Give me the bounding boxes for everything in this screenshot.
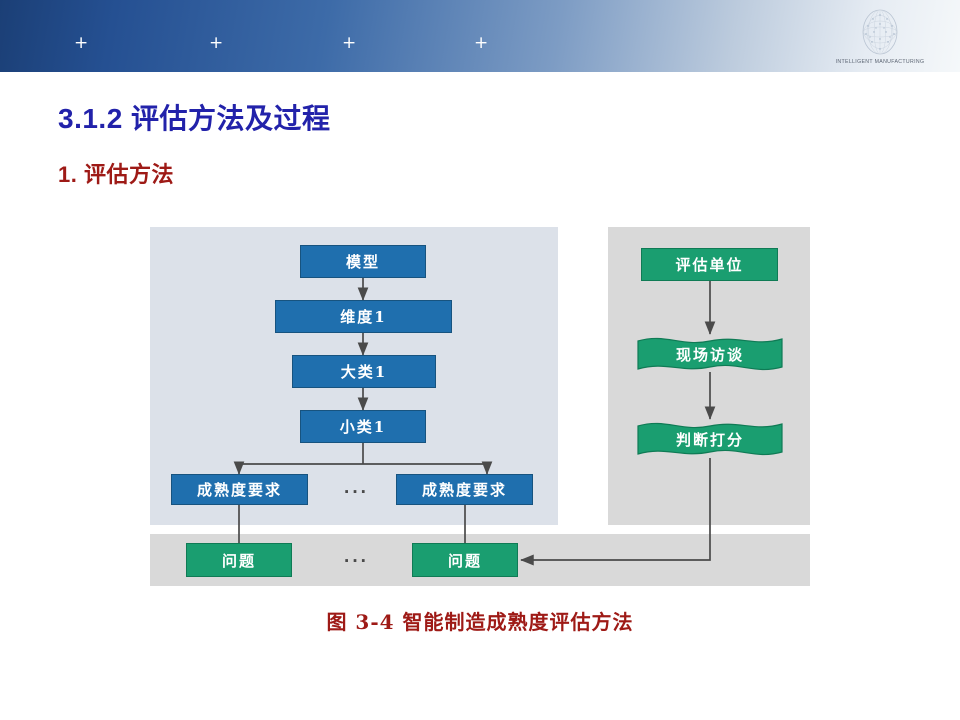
node-model[interactable]: 模型 <box>300 245 426 278</box>
node-category-1[interactable]: 大类1 <box>292 355 436 388</box>
figure-caption: 图 3-4 智能制造成熟度评估方法 <box>0 606 960 635</box>
ellipsis-maturity-row: ··· <box>344 483 369 502</box>
node-subcategory-1[interactable]: 小类1 <box>300 410 426 443</box>
node-assessment-unit-label: 评估单位 <box>675 254 743 275</box>
node-question-right-label: 问题 <box>448 550 482 571</box>
node-maturity-requirement-right-label: 成熟度要求 <box>422 479 507 500</box>
node-assessment-unit[interactable]: 评估单位 <box>641 248 778 281</box>
node-maturity-requirement-left[interactable]: 成熟度要求 <box>171 474 308 505</box>
node-site-interview-label: 现场访谈 <box>676 344 744 365</box>
node-scoring-label: 判断打分 <box>676 429 744 450</box>
node-subcategory-1-label: 小类1 <box>340 416 386 437</box>
node-dimension-1-label: 维度1 <box>340 306 386 327</box>
node-maturity-requirement-left-label: 成熟度要求 <box>197 479 282 500</box>
node-scoring[interactable]: 判断打分 <box>636 417 784 461</box>
node-category-1-label: 大类1 <box>341 361 387 382</box>
figure-diagram: 模型 维度1 大类1 小类1 成熟度要求 成熟度要求 ··· 评估单位 现场访谈… <box>0 0 960 720</box>
node-site-interview[interactable]: 现场访谈 <box>636 332 784 376</box>
ellipsis-question-row: ··· <box>344 552 369 571</box>
node-model-label: 模型 <box>346 251 380 272</box>
node-question-left[interactable]: 问题 <box>186 543 292 577</box>
node-question-right[interactable]: 问题 <box>412 543 518 577</box>
node-question-left-label: 问题 <box>222 550 256 571</box>
node-maturity-requirement-right[interactable]: 成熟度要求 <box>396 474 533 505</box>
node-dimension-1[interactable]: 维度1 <box>275 300 452 333</box>
